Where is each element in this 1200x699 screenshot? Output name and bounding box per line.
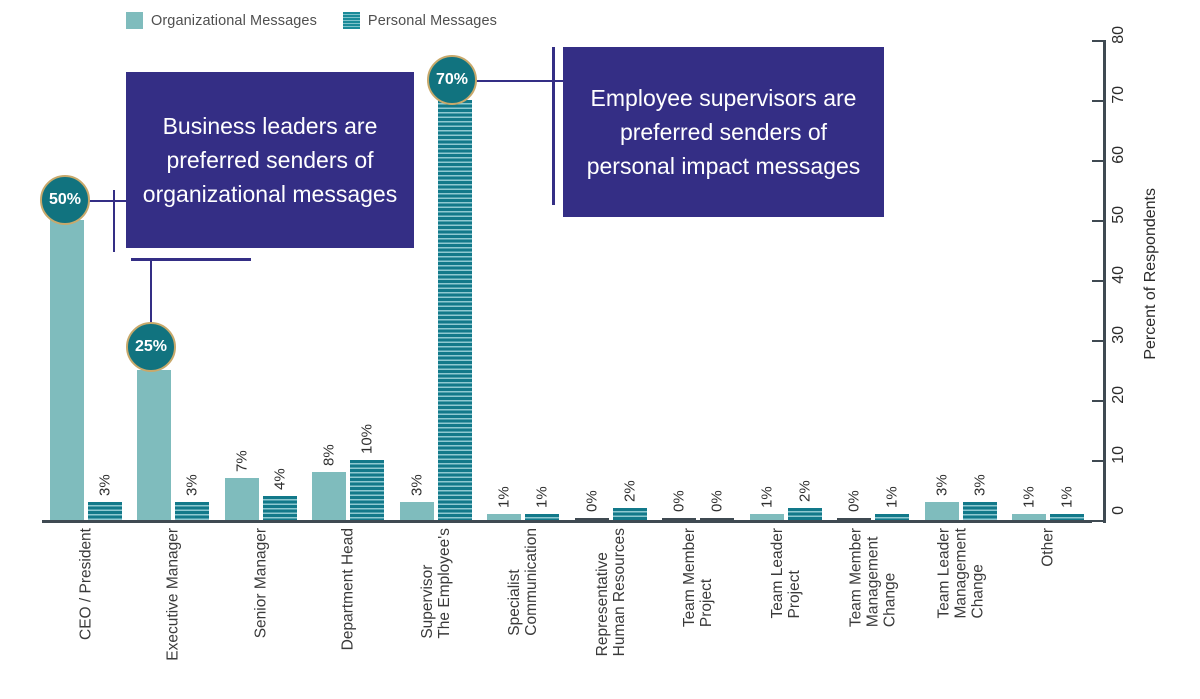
bar-value-label: 7%: [233, 450, 250, 472]
bar-rect: 3%: [400, 502, 434, 520]
bar-rect: 1%: [525, 514, 559, 520]
bar-rect: 8%: [312, 472, 346, 520]
bar-rect: 2%: [788, 508, 822, 520]
y-axis-tick-label: 20: [1110, 386, 1128, 404]
bar-personal[interactable]: 70%: [438, 100, 472, 520]
striped-square-swatch-icon: [343, 12, 360, 29]
bar-personal[interactable]: 1%: [875, 514, 909, 520]
bar-rect: 1%: [1050, 514, 1084, 520]
callout-left-connector-v2: [150, 258, 152, 330]
bar-value-label: 10%: [359, 424, 376, 454]
bar-personal[interactable]: 4%: [263, 496, 297, 520]
bar-rect: 70%: [438, 100, 472, 520]
callout-left-connector-h1: [88, 200, 128, 202]
x-axis-label-cell: The Employee'sSupervisor: [392, 528, 480, 693]
bar-value-label: 0%: [583, 490, 600, 512]
badge-70-percent: 70%: [427, 55, 477, 105]
x-axis-label-line: Specialist: [506, 528, 523, 636]
bar-rect: 2%: [613, 508, 647, 520]
x-axis-label-line: Executive Manager: [165, 528, 182, 661]
x-axis-label-line: Department Head: [340, 528, 357, 650]
x-axis-label-cell: ChangeManagementTeam Leader: [917, 528, 1005, 693]
callout-left-connector-v1: [113, 190, 115, 252]
y-axis-tick: [1092, 520, 1103, 522]
callout-right-connector-h: [476, 80, 564, 82]
y-axis-tick: [1092, 460, 1103, 462]
x-axis-label-line: Change: [969, 528, 986, 618]
x-axis-label-cell: Department Head: [305, 528, 393, 693]
bar-group: 50%3%: [42, 40, 130, 520]
bar-value-label: 2%: [621, 480, 638, 502]
x-axis-label-line: Supervisor: [419, 528, 436, 639]
bar-value-label: 0%: [671, 490, 688, 512]
x-axis-label-cell: ProjectTeam Member: [655, 528, 743, 693]
bar-personal[interactable]: 0%: [700, 518, 734, 520]
x-axis-label-line: Team Leader: [769, 528, 786, 618]
badge-50-percent: 50%: [40, 175, 90, 225]
callout-left-connector-h2: [131, 258, 251, 261]
bar-value-label: 0%: [709, 490, 726, 512]
y-axis-line: [1103, 40, 1106, 523]
x-axis-label-line: Senior Manager: [252, 528, 269, 638]
x-axis-label-line: Other: [1040, 528, 1057, 567]
bar-value-label: 1%: [758, 486, 775, 508]
bar-group: 1%1%: [1005, 40, 1093, 520]
x-axis-label-cell: CommunicationSpecialist: [480, 528, 568, 693]
legend-label-personal: Personal Messages: [368, 13, 497, 29]
badge-25-percent: 25%: [126, 322, 176, 372]
bar-organizational[interactable]: 1%: [487, 514, 521, 520]
bar-value-label: 3%: [971, 474, 988, 496]
legend-item-organizational[interactable]: Organizational Messages: [126, 12, 317, 29]
bar-organizational[interactable]: 1%: [750, 514, 784, 520]
bar-personal[interactable]: 10%: [350, 460, 384, 520]
bar-rect: 0%: [575, 518, 609, 520]
y-axis-tick: [1092, 100, 1103, 102]
bar-personal[interactable]: 3%: [88, 502, 122, 520]
bar-rect: 25%: [137, 370, 171, 520]
legend-item-personal[interactable]: Personal Messages: [343, 12, 497, 29]
bar-value-label: 3%: [408, 474, 425, 496]
bar-value-label: 3%: [96, 474, 113, 496]
bar-rect: 3%: [925, 502, 959, 520]
bar-rect: 4%: [263, 496, 297, 520]
y-axis-tick: [1092, 160, 1103, 162]
x-axis-label-line: Representative: [594, 528, 611, 656]
legend-label-organizational: Organizational Messages: [151, 13, 317, 29]
chart-root: Organizational Messages Personal Message…: [0, 0, 1200, 699]
y-axis-tick: [1092, 40, 1103, 42]
y-axis-tick: [1092, 280, 1103, 282]
bar-value-label: 1%: [1021, 486, 1038, 508]
bar-organizational[interactable]: 0%: [837, 518, 871, 520]
bar-rect: 3%: [175, 502, 209, 520]
x-axis-label-line: Team Member: [681, 528, 698, 627]
bar-rect: 3%: [963, 502, 997, 520]
callout-box-personal: Employee supervisors are preferred sende…: [563, 47, 884, 217]
square-swatch-icon: [126, 12, 143, 29]
bar-organizational[interactable]: 0%: [575, 518, 609, 520]
bar-organizational[interactable]: 25%: [137, 370, 171, 520]
callout-box-organizational: Business leaders are preferred senders o…: [126, 72, 414, 248]
bar-personal[interactable]: 1%: [1050, 514, 1084, 520]
x-axis-label-cell: Senior Manager: [217, 528, 305, 693]
bar-value-label: 3%: [933, 474, 950, 496]
y-axis-tick-label: 10: [1110, 446, 1128, 464]
y-axis-tick: [1092, 400, 1103, 402]
bar-personal[interactable]: 1%: [525, 514, 559, 520]
bar-rect: 50%: [50, 220, 84, 520]
bar-rect: 1%: [875, 514, 909, 520]
y-axis-tick-label: 40: [1110, 266, 1128, 284]
bar-personal[interactable]: 2%: [788, 508, 822, 520]
x-axis-label-line: Change: [882, 528, 899, 627]
bar-organizational[interactable]: 8%: [312, 472, 346, 520]
x-axis-label-cell: ProjectTeam Leader: [742, 528, 830, 693]
y-axis-tick-label: 80: [1110, 26, 1128, 44]
bar-group: 3%3%: [917, 40, 1005, 520]
bar-personal[interactable]: 3%: [175, 502, 209, 520]
chart-legend: Organizational Messages Personal Message…: [126, 12, 497, 29]
x-axis-label-line: Team Member: [848, 528, 865, 627]
x-axis-label-line: Human Resources: [611, 528, 628, 656]
bar-rect: 1%: [487, 514, 521, 520]
bar-rect: 0%: [662, 518, 696, 520]
x-axis-label-cell: Human ResourcesRepresentative: [567, 528, 655, 693]
y-axis-title: Percent of Respondents: [1142, 188, 1160, 360]
bar-organizational[interactable]: 1%: [1012, 514, 1046, 520]
bar-rect: 10%: [350, 460, 384, 520]
y-axis-tick: [1092, 220, 1103, 222]
bar-rect: 7%: [225, 478, 259, 520]
x-axis-label-cell: CEO / President: [42, 528, 130, 693]
bar-personal[interactable]: 2%: [613, 508, 647, 520]
bar-rect: 1%: [1012, 514, 1046, 520]
bar-organizational[interactable]: 3%: [400, 502, 434, 520]
x-axis-line: [42, 520, 1092, 523]
x-axis-label-line: Team Leader: [935, 528, 952, 618]
y-axis-tick-label: 30: [1110, 326, 1128, 344]
x-axis-label-line: Project: [786, 528, 803, 618]
bar-value-label: 1%: [534, 486, 551, 508]
bar-value-label: 0%: [846, 490, 863, 512]
bar-organizational[interactable]: 7%: [225, 478, 259, 520]
bar-value-label: 1%: [1059, 486, 1076, 508]
bar-rect: 0%: [700, 518, 734, 520]
x-axis-label-line: Communication: [523, 528, 540, 636]
bar-value-label: 3%: [184, 474, 201, 496]
y-axis-tick-label: 70: [1110, 86, 1128, 104]
bar-rect: 0%: [837, 518, 871, 520]
x-axis-label-cell: ChangeManagementTeam Member: [830, 528, 918, 693]
bar-value-label: 2%: [796, 480, 813, 502]
y-axis: [1092, 40, 1106, 526]
bar-organizational[interactable]: 50%: [50, 220, 84, 520]
y-axis-tick-label: 0: [1110, 506, 1128, 515]
y-axis-tick-label: 50: [1110, 206, 1128, 224]
x-axis-labels: CEO / PresidentExecutive ManagerSenior M…: [42, 528, 1092, 693]
x-axis-label-line: The Employee's: [436, 528, 453, 639]
y-axis-tick-label: 60: [1110, 146, 1128, 164]
bar-rect: 3%: [88, 502, 122, 520]
bar-organizational[interactable]: 3%: [925, 502, 959, 520]
bar-organizational[interactable]: 0%: [662, 518, 696, 520]
x-axis-label-line: CEO / President: [77, 528, 94, 640]
x-axis-label-line: Project: [698, 528, 715, 627]
bar-value-label: 1%: [884, 486, 901, 508]
x-axis-label-line: Management: [952, 528, 969, 618]
bar-value-label: 4%: [271, 468, 288, 490]
x-axis-label-cell: Executive Manager: [130, 528, 218, 693]
x-axis-label-line: Management: [865, 528, 882, 627]
y-axis-tick: [1092, 340, 1103, 342]
bar-value-label: 1%: [496, 486, 513, 508]
bar-rect: 1%: [750, 514, 784, 520]
x-axis-label-cell: Other: [1005, 528, 1093, 693]
callout-right-connector-v: [552, 47, 555, 205]
bar-personal[interactable]: 3%: [963, 502, 997, 520]
bar-value-label: 8%: [321, 444, 338, 466]
